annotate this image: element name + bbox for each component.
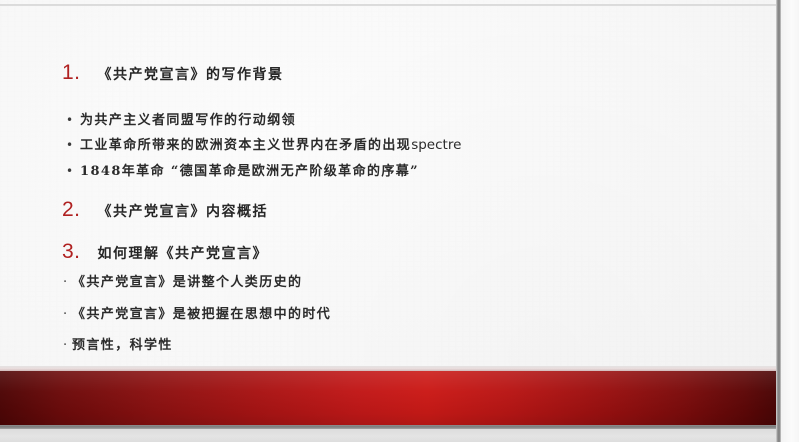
section-heading-2: 2. 《共产党宣言》内容概括 (62, 198, 268, 222)
section-heading-3: 3. 如何理解《共产党宣言》 (62, 240, 268, 264)
slide-content-body: 1. 《共产党宣言》的写作背景 • 为共产主义者同盟写作的行动纲领 • 工业革命… (0, 0, 776, 366)
list-item-text: 工业革命所带来的欧洲资本主义世界内在矛盾的出现 (80, 138, 411, 153)
section-title-1: 《共产党宣言》的写作背景 (98, 64, 284, 84)
list-item-label: 预言性，科学性 (72, 334, 173, 353)
list-item: • 工业革命所带来的欧洲资本主义世界内在矛盾的出现spectre (66, 134, 461, 153)
list-item-label: 工业革命所带来的欧洲资本主义世界内在矛盾的出现spectre (80, 134, 461, 153)
list-item-label: 1848年革命 “德国革命是欧洲无产阶级革命的序幕” (80, 160, 419, 179)
list-item: • 为共产主义者同盟写作的行动纲领 (66, 109, 296, 128)
section-number-2: 2. (62, 198, 81, 222)
bullet-dot-icon: • (66, 165, 80, 177)
section-number-3: 3. (62, 240, 81, 264)
list-item: · 《共产党宣言》是讲整个人类历史的 (63, 271, 302, 290)
slide-canvas: 1. 《共产党宣言》的写作背景 • 为共产主义者同盟写作的行动纲领 • 工业革命… (0, 0, 776, 442)
slide-footer-banner (0, 366, 776, 442)
list-item-latin-term: spectre (411, 137, 461, 153)
banner-red-bar (0, 371, 776, 425)
section-title-2: 《共产党宣言》内容概括 (98, 201, 269, 221)
presentation-slide: 1. 《共产党宣言》的写作背景 • 为共产主义者同盟写作的行动纲领 • 工业革命… (0, 0, 799, 442)
list-item: · 《共产党宣言》是被把握在思想中的时代 (63, 303, 331, 322)
bullet-dot-icon: • (66, 114, 80, 126)
bullet-dot-icon: · (63, 308, 72, 321)
list-item-label: 为共产主义者同盟写作的行动纲领 (80, 109, 296, 128)
bullet-dot-icon: · (63, 276, 72, 289)
outer-right-pane (781, 0, 799, 442)
list-item-label: 《共产党宣言》是讲整个人类历史的 (72, 271, 302, 290)
section-number-1: 1. (62, 61, 81, 85)
banner-footer-fill (0, 429, 776, 442)
list-item: · 预言性，科学性 (63, 334, 173, 353)
section-heading-1: 1. 《共产党宣言》的写作背景 (62, 61, 284, 85)
list-item: • 1848年革命 “德国革命是欧洲无产阶级革命的序幕” (66, 160, 419, 179)
banner-gloss-overlay (0, 371, 776, 425)
bullet-dot-icon: · (63, 339, 72, 352)
section-title-3: 如何理解《共产党宣言》 (98, 243, 269, 263)
list-item-label: 《共产党宣言》是被把握在思想中的时代 (72, 303, 331, 322)
bullet-dot-icon: • (66, 139, 80, 151)
